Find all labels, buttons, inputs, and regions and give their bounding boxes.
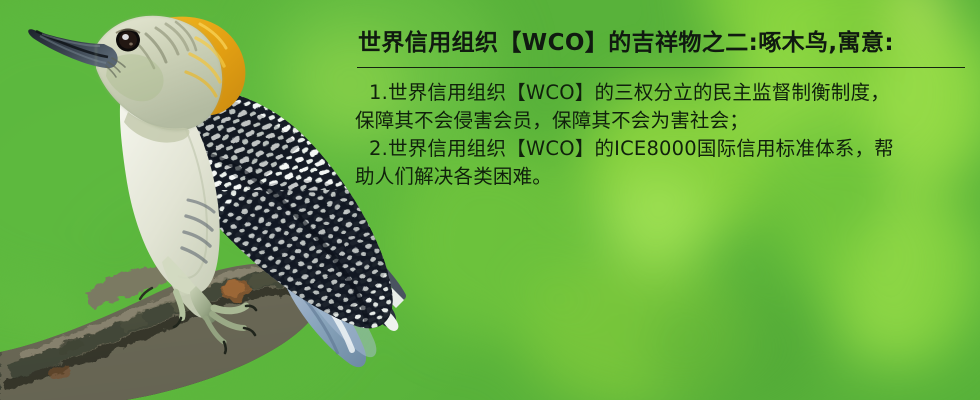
benefits-list: 1.世界信用组织【WCO】的三权分立的民主监督制衡制度， 保障其不会侵害会员，保… — [355, 79, 970, 191]
list-item-line: 助人们解决各类困难。 — [355, 163, 970, 191]
list-item: 1.世界信用组织【WCO】的三权分立的民主监督制衡制度， 保障其不会侵害会员，保… — [355, 79, 970, 135]
promo-banner: 世界信用组织【WCO】的吉祥物之二:啄木鸟,寓意: 1.世界信用组织【WCO】的… — [0, 0, 980, 400]
list-item-line: 保障其不会侵害会员，保障其不会为害社会； — [355, 107, 970, 135]
page-title: 世界信用组织【WCO】的吉祥物之二:啄木鸟,寓意: — [355, 28, 970, 58]
text-panel: 世界信用组织【WCO】的吉祥物之二:啄木鸟,寓意: 1.世界信用组织【WCO】的… — [355, 28, 970, 191]
bird-eye — [116, 29, 140, 52]
list-item-line: 2.世界信用组织【WCO】的ICE8000国际信用标准体系，帮 — [355, 135, 970, 163]
title-divider — [357, 67, 965, 68]
list-item-line: 1.世界信用组织【WCO】的三权分立的民主监督制衡制度， — [355, 79, 970, 107]
list-item: 2.世界信用组织【WCO】的ICE8000国际信用标准体系，帮 助人们解决各类困… — [355, 135, 970, 191]
